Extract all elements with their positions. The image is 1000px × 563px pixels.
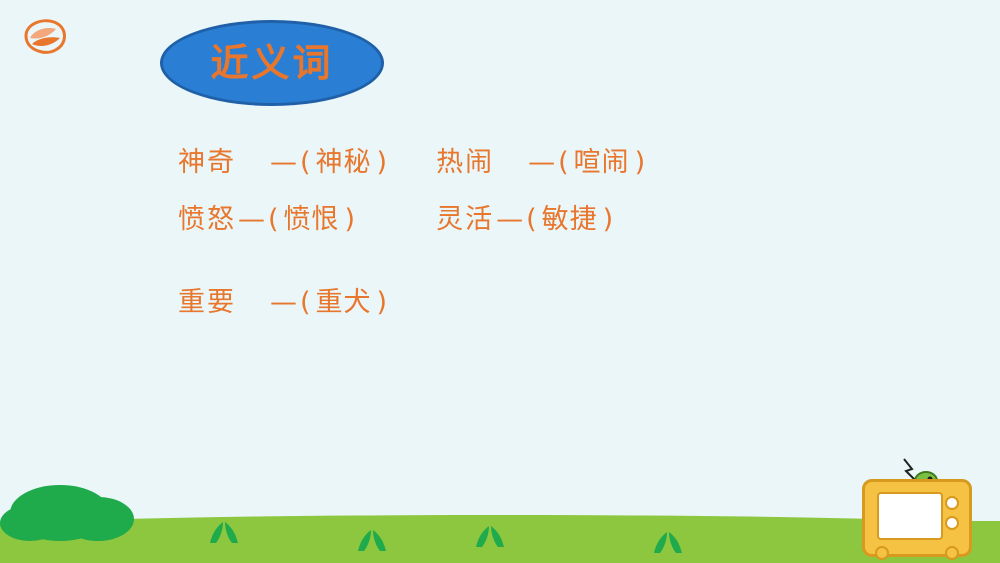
title-badge: 近义词 (160, 20, 384, 106)
answer-word: 喧闹 (570, 140, 634, 179)
paren-close: ) (634, 147, 647, 178)
answer-word: 神秘 (312, 140, 376, 179)
tv-body (862, 479, 972, 557)
dash: — (268, 147, 299, 178)
tv-screen (877, 492, 943, 540)
paren-open: ( (299, 147, 312, 178)
tv-leg (945, 546, 959, 560)
paren-open: ( (525, 204, 538, 235)
dash: — (526, 147, 557, 178)
dash: — (494, 204, 525, 235)
grass-icon (652, 531, 684, 555)
grass-icon (44, 485, 80, 511)
term-word: 灵活 (436, 197, 494, 236)
term-word: 愤怒 (178, 197, 236, 236)
paren-close: ) (344, 204, 357, 235)
paren-open: ( (267, 204, 280, 235)
paren-close: ) (376, 287, 389, 318)
word-row: 神奇 — ( 神秘 ) 热闹 — ( 喧闹 ) (178, 140, 878, 179)
paren-open: ( (557, 147, 570, 178)
word-row: 重要 — ( 重犬 ) (178, 280, 878, 319)
answer-word: 敏捷 (538, 197, 602, 236)
paren-close: ) (376, 147, 389, 178)
dash: — (236, 204, 267, 235)
tv-icon (862, 461, 974, 553)
paren-open: ( (299, 287, 312, 318)
grass-icon (356, 529, 388, 553)
word-row: 愤怒 — ( 愤恨 ) 灵活 — ( 敏捷 ) (178, 197, 878, 236)
paren-close: ) (602, 204, 615, 235)
term-word: 神奇 (178, 140, 236, 179)
word-list: 神奇 — ( 神秘 ) 热闹 — ( 喧闹 ) 愤怒 — ( 愤恨 ) 灵活 —… (178, 140, 878, 337)
term-word: 热闹 (436, 140, 494, 179)
slide-canvas: 近义词 神奇 — ( 神秘 ) 热闹 — ( 喧闹 ) 愤怒 — ( 愤恨 ) … (0, 0, 1000, 563)
dash: — (268, 287, 299, 318)
grass-icon (474, 525, 506, 549)
answer-word: 愤恨 (280, 197, 344, 236)
answer-word: 重犬 (312, 280, 376, 319)
grass-icon (208, 521, 240, 545)
tv-knob-icon (945, 496, 959, 510)
tv-leg (875, 546, 889, 560)
tv-knob-icon (945, 516, 959, 530)
term-word: 重要 (178, 280, 236, 319)
leaf-logo-icon (20, 14, 76, 70)
page-title: 近义词 (210, 44, 333, 82)
